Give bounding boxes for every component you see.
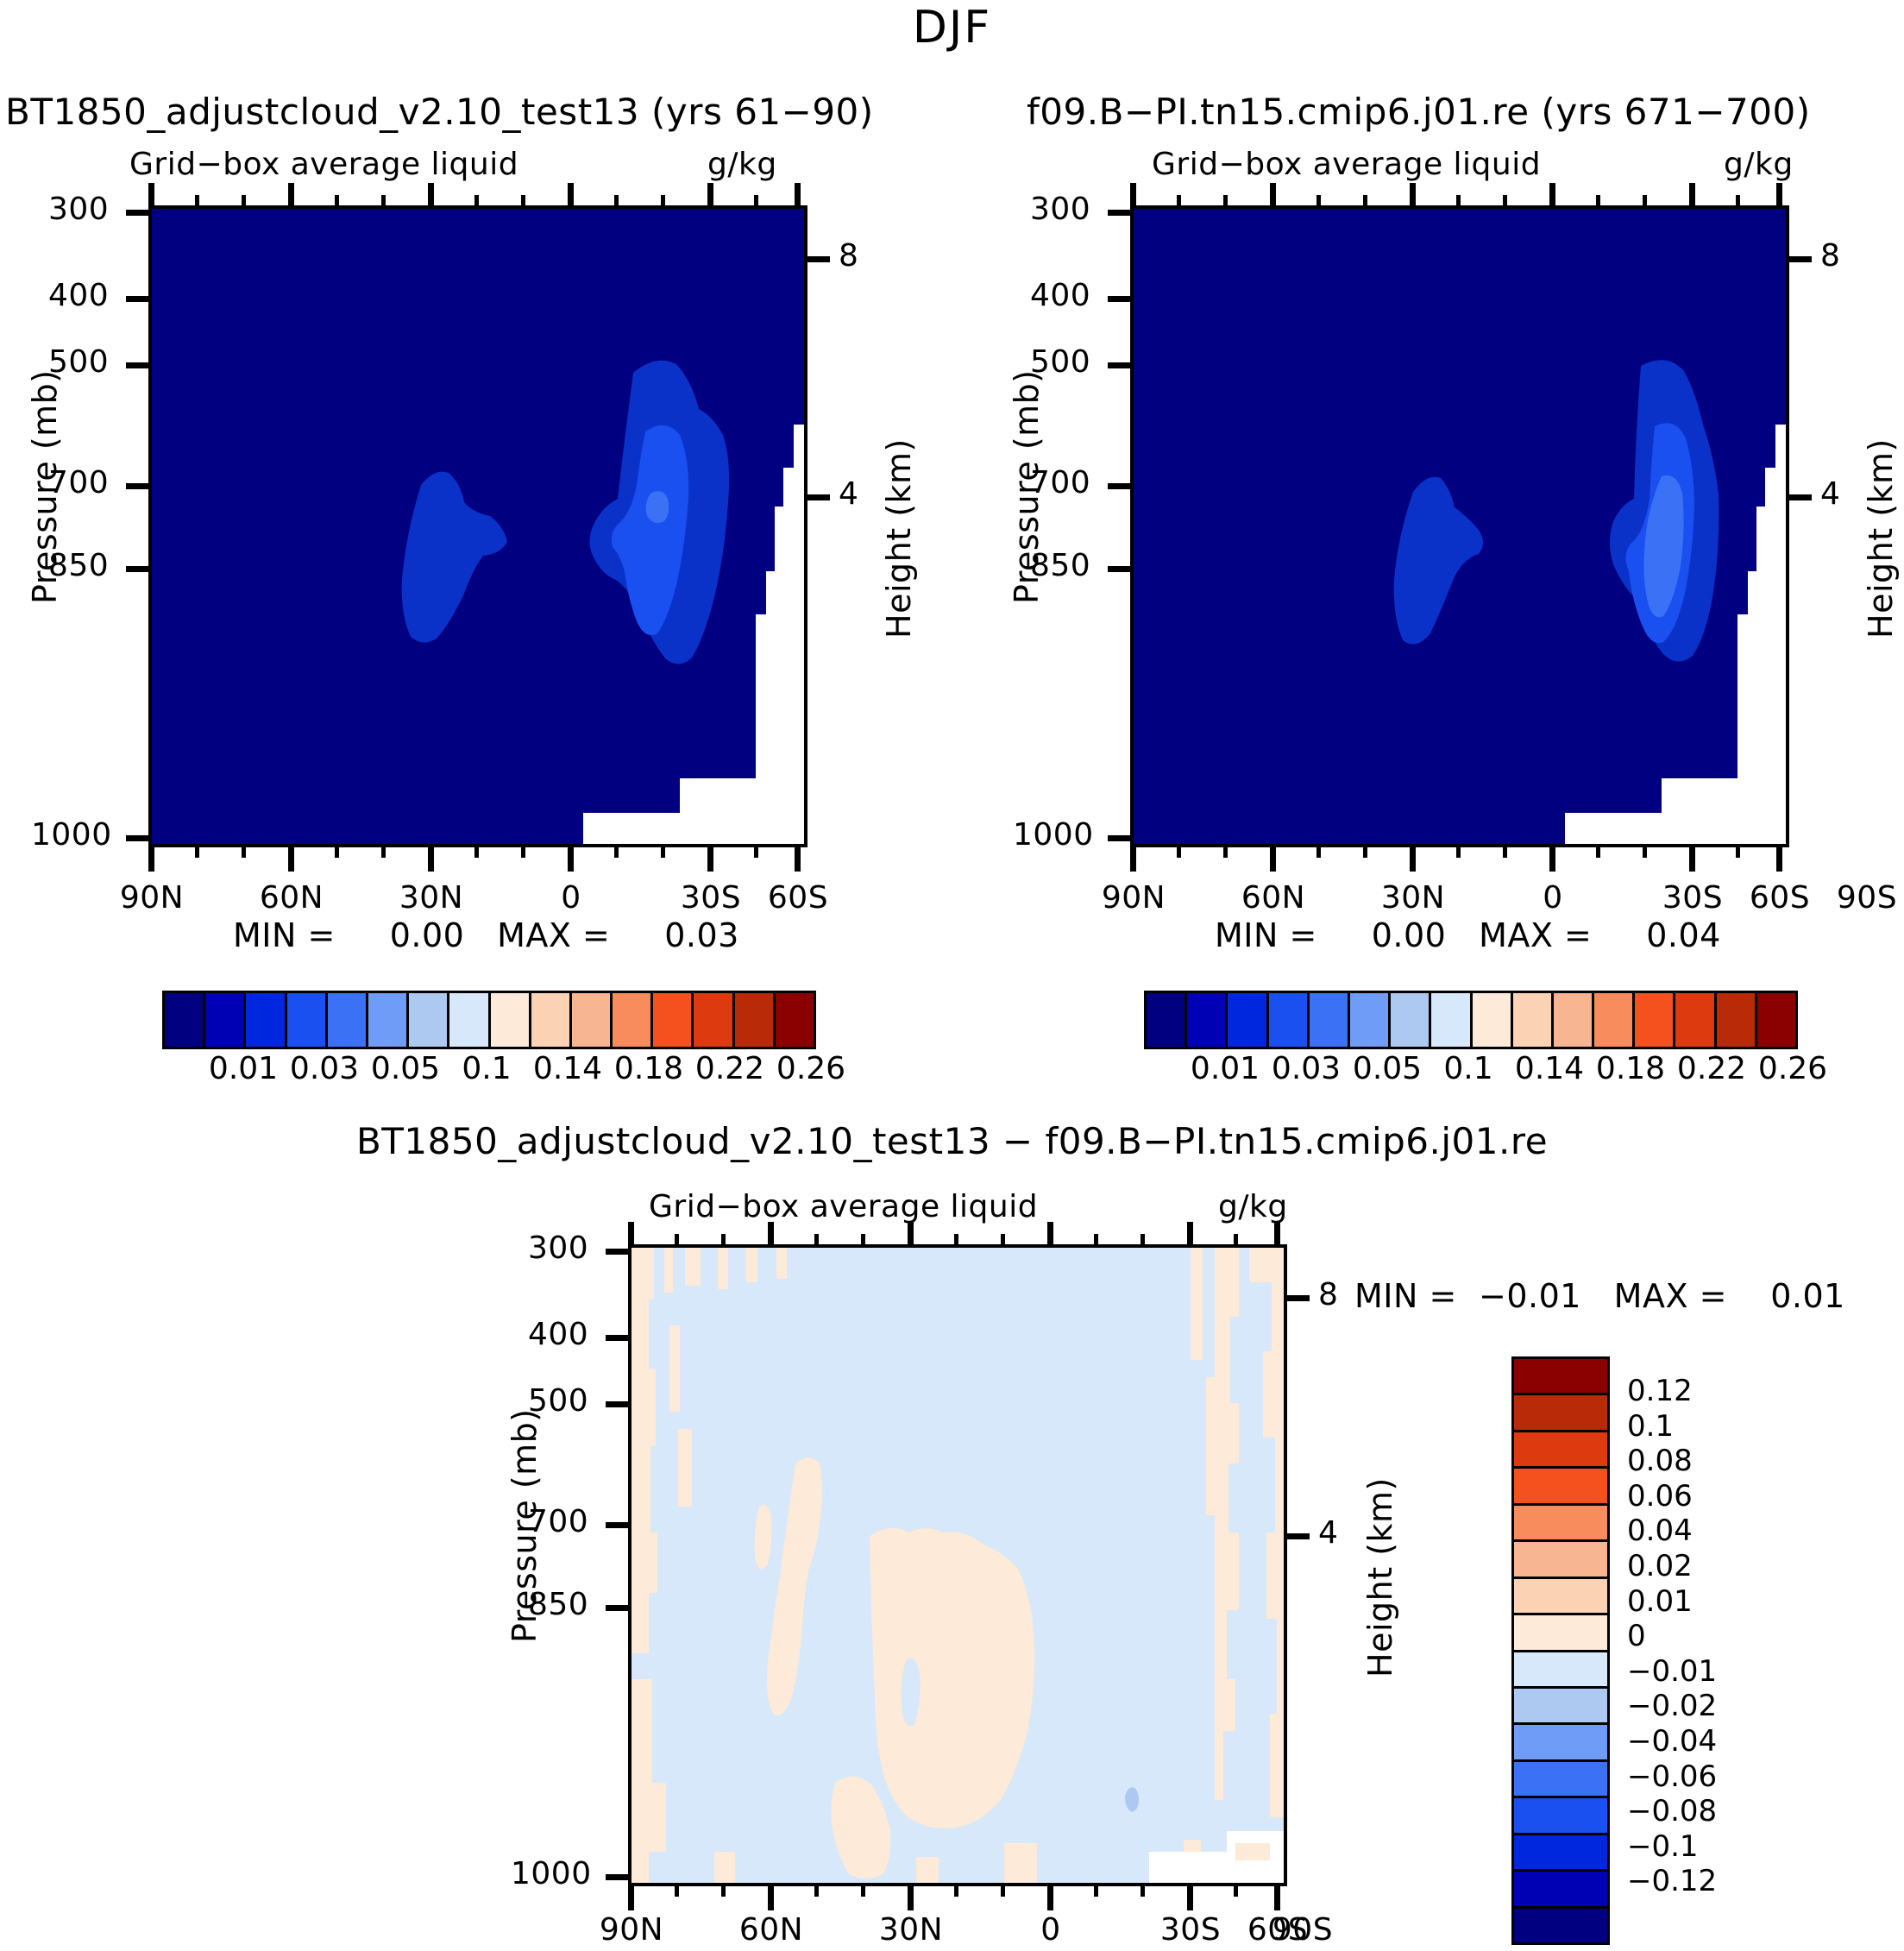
- diff-lat-tick-30N: 30N: [864, 1912, 958, 1948]
- diff-lat-tick-30S: 30S: [1144, 1912, 1237, 1948]
- left-panel-title: BT1850_adjustcloud_v2.10_test13 (yrs 61−…: [5, 91, 874, 133]
- right-pressure-axis-label: Pressure (mb): [1008, 369, 1046, 604]
- diff-colorbar-label-7: 0: [1627, 1619, 1782, 1654]
- right-height-axis-label: Height (km): [1862, 438, 1900, 639]
- right-colorbar-cell-4[interactable]: [1310, 993, 1350, 1047]
- right-pressure-tick-400: 400: [1030, 278, 1090, 313]
- diff-pressure-tick-400: 400: [528, 1317, 588, 1352]
- diff-colorbar-label-2: 0.08: [1627, 1444, 1782, 1479]
- diff-colorbar-label-3: 0.06: [1627, 1479, 1782, 1514]
- left-colorbar-label-3: 0.1: [447, 1051, 526, 1086]
- lat-tick-0: 0: [525, 880, 618, 916]
- right-colorbar-cell-2[interactable]: [1228, 993, 1268, 1047]
- right-pressure-tick-1000: 1000: [1013, 817, 1094, 853]
- left-colorbar-cell-0[interactable]: [165, 993, 205, 1047]
- right-colorbar-cell-14[interactable]: [1717, 993, 1757, 1047]
- left-colorbar-cell-2[interactable]: [246, 993, 286, 1047]
- right-colorbar-cell-15[interactable]: [1757, 993, 1795, 1047]
- lat-tick-90N: 90N: [105, 880, 198, 916]
- left-colorbar-cell-11[interactable]: [613, 993, 653, 1047]
- diff-colorbar-cell-7[interactable]: [1514, 1615, 1607, 1652]
- left-colorbar-label-2: 0.05: [366, 1051, 445, 1086]
- left-colorbar-cell-4[interactable]: [328, 993, 368, 1047]
- diff-colorbar-label-0: 0.12: [1627, 1374, 1782, 1409]
- right-colorbar-label-1: 0.03: [1266, 1051, 1346, 1086]
- season-title: DJF: [0, 2, 1904, 53]
- lat-tick-30S: 30S: [664, 880, 757, 916]
- left-colorbar-cell-9[interactable]: [531, 993, 572, 1047]
- right-panel-title: f09.B−PI.tn15.cmip6.j01.re (yrs 671−700): [1027, 91, 1811, 133]
- right-minmax-text: MIN = 0.00 MAX = 0.04: [1215, 916, 1721, 954]
- diff-colorbar-label-10: −0.04: [1627, 1724, 1782, 1759]
- height-tick-4: 4: [839, 476, 858, 512]
- diff-lat-tick-0: 0: [1004, 1912, 1097, 1948]
- left-minmax-text: MIN = 0.00 MAX = 0.03: [233, 916, 739, 954]
- diff-colorbar[interactable]: [1511, 1356, 1610, 1945]
- diff-colorbar-label-14: −0.12: [1627, 1864, 1782, 1899]
- diff-colorbar-cell-5[interactable]: [1514, 1542, 1607, 1578]
- left-colorbar-cell-5[interactable]: [368, 993, 409, 1047]
- diff-colorbar-label-8: −0.01: [1627, 1654, 1782, 1690]
- right-height-tick-4: 4: [1820, 476, 1840, 512]
- diff-colorbar-label-5: 0.02: [1627, 1549, 1782, 1584]
- right-colorbar-label-0: 0.01: [1185, 1051, 1265, 1086]
- diff-lat-tick-90N: 90N: [585, 1912, 678, 1948]
- diff-pressure-tick-1000: 1000: [511, 1856, 592, 1891]
- right-lat-tick-90N: 90N: [1087, 880, 1180, 916]
- diff-colorbar-cell-0[interactable]: [1514, 1359, 1607, 1395]
- diff-colorbar-cell-6[interactable]: [1514, 1579, 1607, 1615]
- diff-colorbar-cell-9[interactable]: [1514, 1689, 1607, 1725]
- left-colorbar-label-1: 0.03: [285, 1051, 364, 1086]
- diff-colorbar-cell-10[interactable]: [1514, 1725, 1607, 1761]
- diff-height-tick-4: 4: [1318, 1515, 1338, 1551]
- left-colorbar-label-5: 0.18: [609, 1051, 688, 1086]
- right-colorbar-cell-7[interactable]: [1431, 993, 1472, 1047]
- right-colorbar-cell-13[interactable]: [1675, 993, 1716, 1047]
- right-units-label: g/kg: [1724, 147, 1794, 182]
- lat-tick-30N: 30N: [385, 880, 478, 916]
- right-colorbar-cell-10[interactable]: [1554, 993, 1594, 1047]
- right-variable-label: Grid−box average liquid: [1152, 147, 1541, 182]
- right-colorbar-cell-9[interactable]: [1513, 993, 1554, 1047]
- left-units-label: g/kg: [707, 147, 777, 182]
- diff-field-canvas: [632, 1248, 1284, 1883]
- diff-variable-label: Grid−box average liquid: [649, 1189, 1038, 1224]
- diff-colorbar-cell-2[interactable]: [1514, 1432, 1607, 1469]
- height-tick-8: 8: [839, 238, 858, 274]
- diff-panel-title: BT1850_adjustcloud_v2.10_test13 − f09.B−…: [0, 1120, 1904, 1162]
- right-colorbar-cell-11[interactable]: [1594, 993, 1635, 1047]
- diff-colorbar-cell-12[interactable]: [1514, 1798, 1607, 1835]
- right-colorbar-cell-12[interactable]: [1635, 993, 1675, 1047]
- diff-colorbar-label-12: −0.08: [1627, 1794, 1782, 1829]
- left-colorbar-cell-14[interactable]: [735, 993, 776, 1047]
- right-colorbar-label-6: 0.22: [1672, 1051, 1751, 1086]
- right-colorbar-cell-5[interactable]: [1350, 993, 1391, 1047]
- diff-lat-tick-60N: 60N: [725, 1912, 818, 1948]
- left-field-canvas: [152, 209, 804, 844]
- pressure-tick-1000: 1000: [31, 817, 112, 853]
- left-pressure-axis-label: Pressure (mb): [26, 369, 64, 604]
- left-colorbar-cell-10[interactable]: [572, 993, 613, 1047]
- diff-colorbar-cell-13[interactable]: [1514, 1835, 1607, 1872]
- right-colorbar-cell-0[interactable]: [1147, 993, 1187, 1047]
- left-colorbar-label-7: 0.26: [771, 1051, 851, 1086]
- lat-tick-60S: 60S: [751, 880, 845, 916]
- right-colorbar-cell-1[interactable]: [1187, 993, 1228, 1047]
- pressure-tick-300: 300: [48, 192, 109, 227]
- pressure-tick-400: 400: [48, 278, 109, 313]
- left-colorbar-label-6: 0.22: [690, 1051, 770, 1086]
- diff-colorbar-label-11: −0.06: [1627, 1759, 1782, 1795]
- diff-colorbar-label-13: −0.1: [1627, 1829, 1782, 1865]
- right-height-tick-8: 8: [1820, 238, 1840, 274]
- right-lat-tick-90S: 90S: [1820, 880, 1904, 916]
- left-height-axis-label: Height (km): [880, 438, 918, 639]
- diff-colorbar-cell-11[interactable]: [1514, 1762, 1607, 1798]
- lat-tick-60N: 60N: [245, 880, 338, 916]
- diff-colorbar-cell-4[interactable]: [1514, 1506, 1607, 1542]
- diff-colorbar-cell-15[interactable]: [1514, 1909, 1607, 1942]
- left-contour-plot[interactable]: [148, 205, 807, 847]
- diff-minmax-text: MIN = −0.01 MAX = 0.01: [1354, 1277, 1845, 1315]
- left-variable-label: Grid−box average liquid: [129, 147, 518, 182]
- right-colorbar-label-4: 0.14: [1510, 1051, 1589, 1086]
- diff-colorbar-labels: 0.120.10.080.060.040.020.010−0.01−0.02−0…: [1627, 1374, 1782, 1899]
- left-colorbar-label-4: 0.14: [528, 1051, 607, 1086]
- right-colorbar-label-2: 0.05: [1348, 1051, 1427, 1086]
- right-lat-tick-30S: 30S: [1646, 880, 1739, 916]
- left-colorbar-cell-15[interactable]: [776, 993, 814, 1047]
- diff-contour-plot[interactable]: [628, 1244, 1287, 1886]
- diff-lat-tick-90S: 90S: [1256, 1912, 1349, 1948]
- right-colorbar-label-7: 0.26: [1753, 1051, 1832, 1086]
- left-colorbar-cell-12[interactable]: [653, 993, 694, 1047]
- left-colorbar-cell-3[interactable]: [287, 993, 328, 1047]
- right-pressure-tick-300: 300: [1030, 192, 1090, 227]
- left-colorbar-cell-8[interactable]: [491, 993, 531, 1047]
- right-lat-tick-60N: 60N: [1227, 880, 1320, 916]
- right-colorbar-cell-3[interactable]: [1269, 993, 1310, 1047]
- left-colorbar[interactable]: [162, 991, 816, 1049]
- diff-height-tick-8: 8: [1318, 1277, 1338, 1312]
- right-contour-plot[interactable]: [1130, 205, 1789, 847]
- right-colorbar-cell-8[interactable]: [1473, 993, 1513, 1047]
- diff-units-label: g/kg: [1218, 1189, 1288, 1224]
- right-lat-tick-60S: 60S: [1733, 880, 1826, 916]
- diff-colorbar-cell-8[interactable]: [1514, 1652, 1607, 1689]
- diff-pressure-tick-300: 300: [528, 1230, 588, 1266]
- right-lat-tick-30N: 30N: [1367, 880, 1460, 916]
- diff-colorbar-cell-3[interactable]: [1514, 1469, 1607, 1505]
- left-colorbar-cell-7[interactable]: [449, 993, 490, 1047]
- left-colorbar-label-0: 0.01: [204, 1051, 283, 1086]
- left-colorbar-cell-13[interactable]: [694, 993, 734, 1047]
- diff-colorbar-cell-14[interactable]: [1514, 1872, 1607, 1908]
- diff-colorbar-cell-1[interactable]: [1514, 1395, 1607, 1432]
- diff-height-axis-label: Height (km): [1361, 1477, 1399, 1677]
- diff-colorbar-label-9: −0.02: [1627, 1689, 1782, 1724]
- diff-colorbar-label-4: 0.04: [1627, 1514, 1782, 1549]
- diff-pressure-axis-label: Pressure (mb): [506, 1408, 544, 1643]
- right-colorbar-label-5: 0.18: [1591, 1051, 1670, 1086]
- left-colorbar-cell-6[interactable]: [409, 993, 449, 1047]
- right-lat-tick-0: 0: [1506, 880, 1599, 916]
- diff-colorbar-label-6: 0.01: [1627, 1584, 1782, 1620]
- right-field-canvas: [1134, 209, 1786, 844]
- right-colorbar[interactable]: [1144, 991, 1798, 1049]
- right-colorbar-cell-6[interactable]: [1391, 993, 1431, 1047]
- left-colorbar-cell-1[interactable]: [205, 993, 246, 1047]
- right-colorbar-label-3: 0.1: [1429, 1051, 1508, 1086]
- diff-colorbar-label-1: 0.1: [1627, 1409, 1782, 1444]
